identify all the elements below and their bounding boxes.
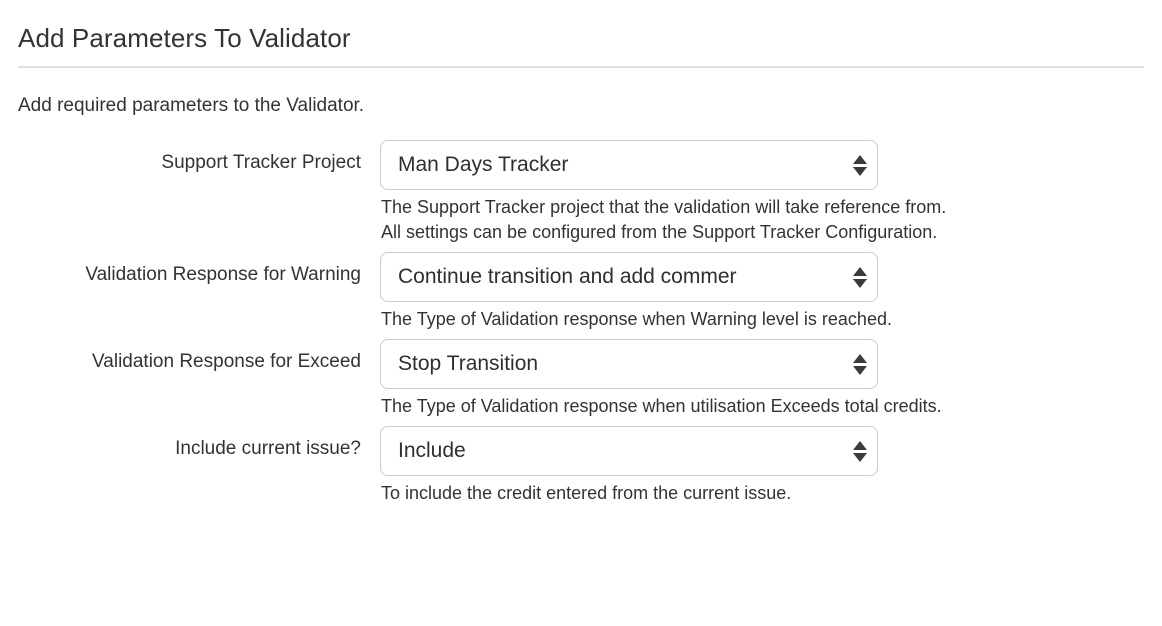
select-value-validation-response-exceed: Stop Transition — [381, 352, 843, 376]
add-parameters-to-validator-page: Add Parameters To Validator Add required… — [0, 0, 1162, 626]
label-support-tracker-project: Support Tracker Project — [0, 140, 380, 176]
control-validation-response-warning: Continue transition and add commer The T… — [380, 252, 1162, 332]
label-include-current-issue: Include current issue? — [0, 426, 380, 462]
help-text-support-tracker-project: The Support Tracker project that the val… — [380, 195, 1162, 245]
chevron-down-icon — [853, 167, 867, 176]
control-validation-response-exceed: Stop Transition The Type of Validation r… — [380, 339, 1162, 419]
select-include-current-issue[interactable]: Include — [380, 426, 878, 476]
select-validation-response-warning[interactable]: Continue transition and add commer — [380, 252, 878, 302]
chevron-down-icon — [853, 279, 867, 288]
label-validation-response-warning: Validation Response for Warning — [0, 252, 380, 288]
field-row-validation-response-exceed: Validation Response for Exceed Stop Tran… — [0, 339, 1162, 419]
page-title: Add Parameters To Validator — [18, 22, 1144, 66]
stepper-arrows-icon[interactable] — [843, 155, 877, 176]
select-support-tracker-project[interactable]: Man Days Tracker — [380, 140, 878, 190]
help-text-line: All settings can be configured from the … — [381, 220, 1162, 245]
chevron-up-icon — [853, 354, 867, 363]
stepper-arrows-icon[interactable] — [843, 441, 877, 462]
help-text-line: The Type of Validation response when uti… — [381, 394, 1162, 419]
stepper-arrows-icon[interactable] — [843, 267, 877, 288]
chevron-up-icon — [853, 155, 867, 164]
help-text-line: The Type of Validation response when War… — [381, 307, 1162, 332]
help-text-validation-response-exceed: The Type of Validation response when uti… — [380, 394, 1162, 419]
select-value-support-tracker-project: Man Days Tracker — [381, 153, 843, 177]
help-text-line: The Support Tracker project that the val… — [381, 195, 1162, 220]
page-description: Add required parameters to the Validator… — [0, 68, 1162, 118]
label-validation-response-exceed: Validation Response for Exceed — [0, 339, 380, 375]
field-row-support-tracker-project: Support Tracker Project Man Days Tracker… — [0, 140, 1162, 245]
help-text-validation-response-warning: The Type of Validation response when War… — [380, 307, 1162, 332]
chevron-down-icon — [853, 366, 867, 375]
page-header: Add Parameters To Validator — [0, 0, 1162, 68]
control-include-current-issue: Include To include the credit entered fr… — [380, 426, 1162, 506]
chevron-up-icon — [853, 267, 867, 276]
field-row-include-current-issue: Include current issue? Include To includ… — [0, 426, 1162, 506]
chevron-up-icon — [853, 441, 867, 450]
stepper-arrows-icon[interactable] — [843, 354, 877, 375]
help-text-line: To include the credit entered from the c… — [381, 481, 1162, 506]
help-text-include-current-issue: To include the credit entered from the c… — [380, 481, 1162, 506]
field-row-validation-response-warning: Validation Response for Warning Continue… — [0, 252, 1162, 332]
select-value-include-current-issue: Include — [381, 439, 843, 463]
chevron-down-icon — [853, 453, 867, 462]
parameters-form: Support Tracker Project Man Days Tracker… — [0, 140, 1162, 506]
control-support-tracker-project: Man Days Tracker The Support Tracker pro… — [380, 140, 1162, 245]
select-value-validation-response-warning: Continue transition and add commer — [381, 265, 843, 289]
select-validation-response-exceed[interactable]: Stop Transition — [380, 339, 878, 389]
